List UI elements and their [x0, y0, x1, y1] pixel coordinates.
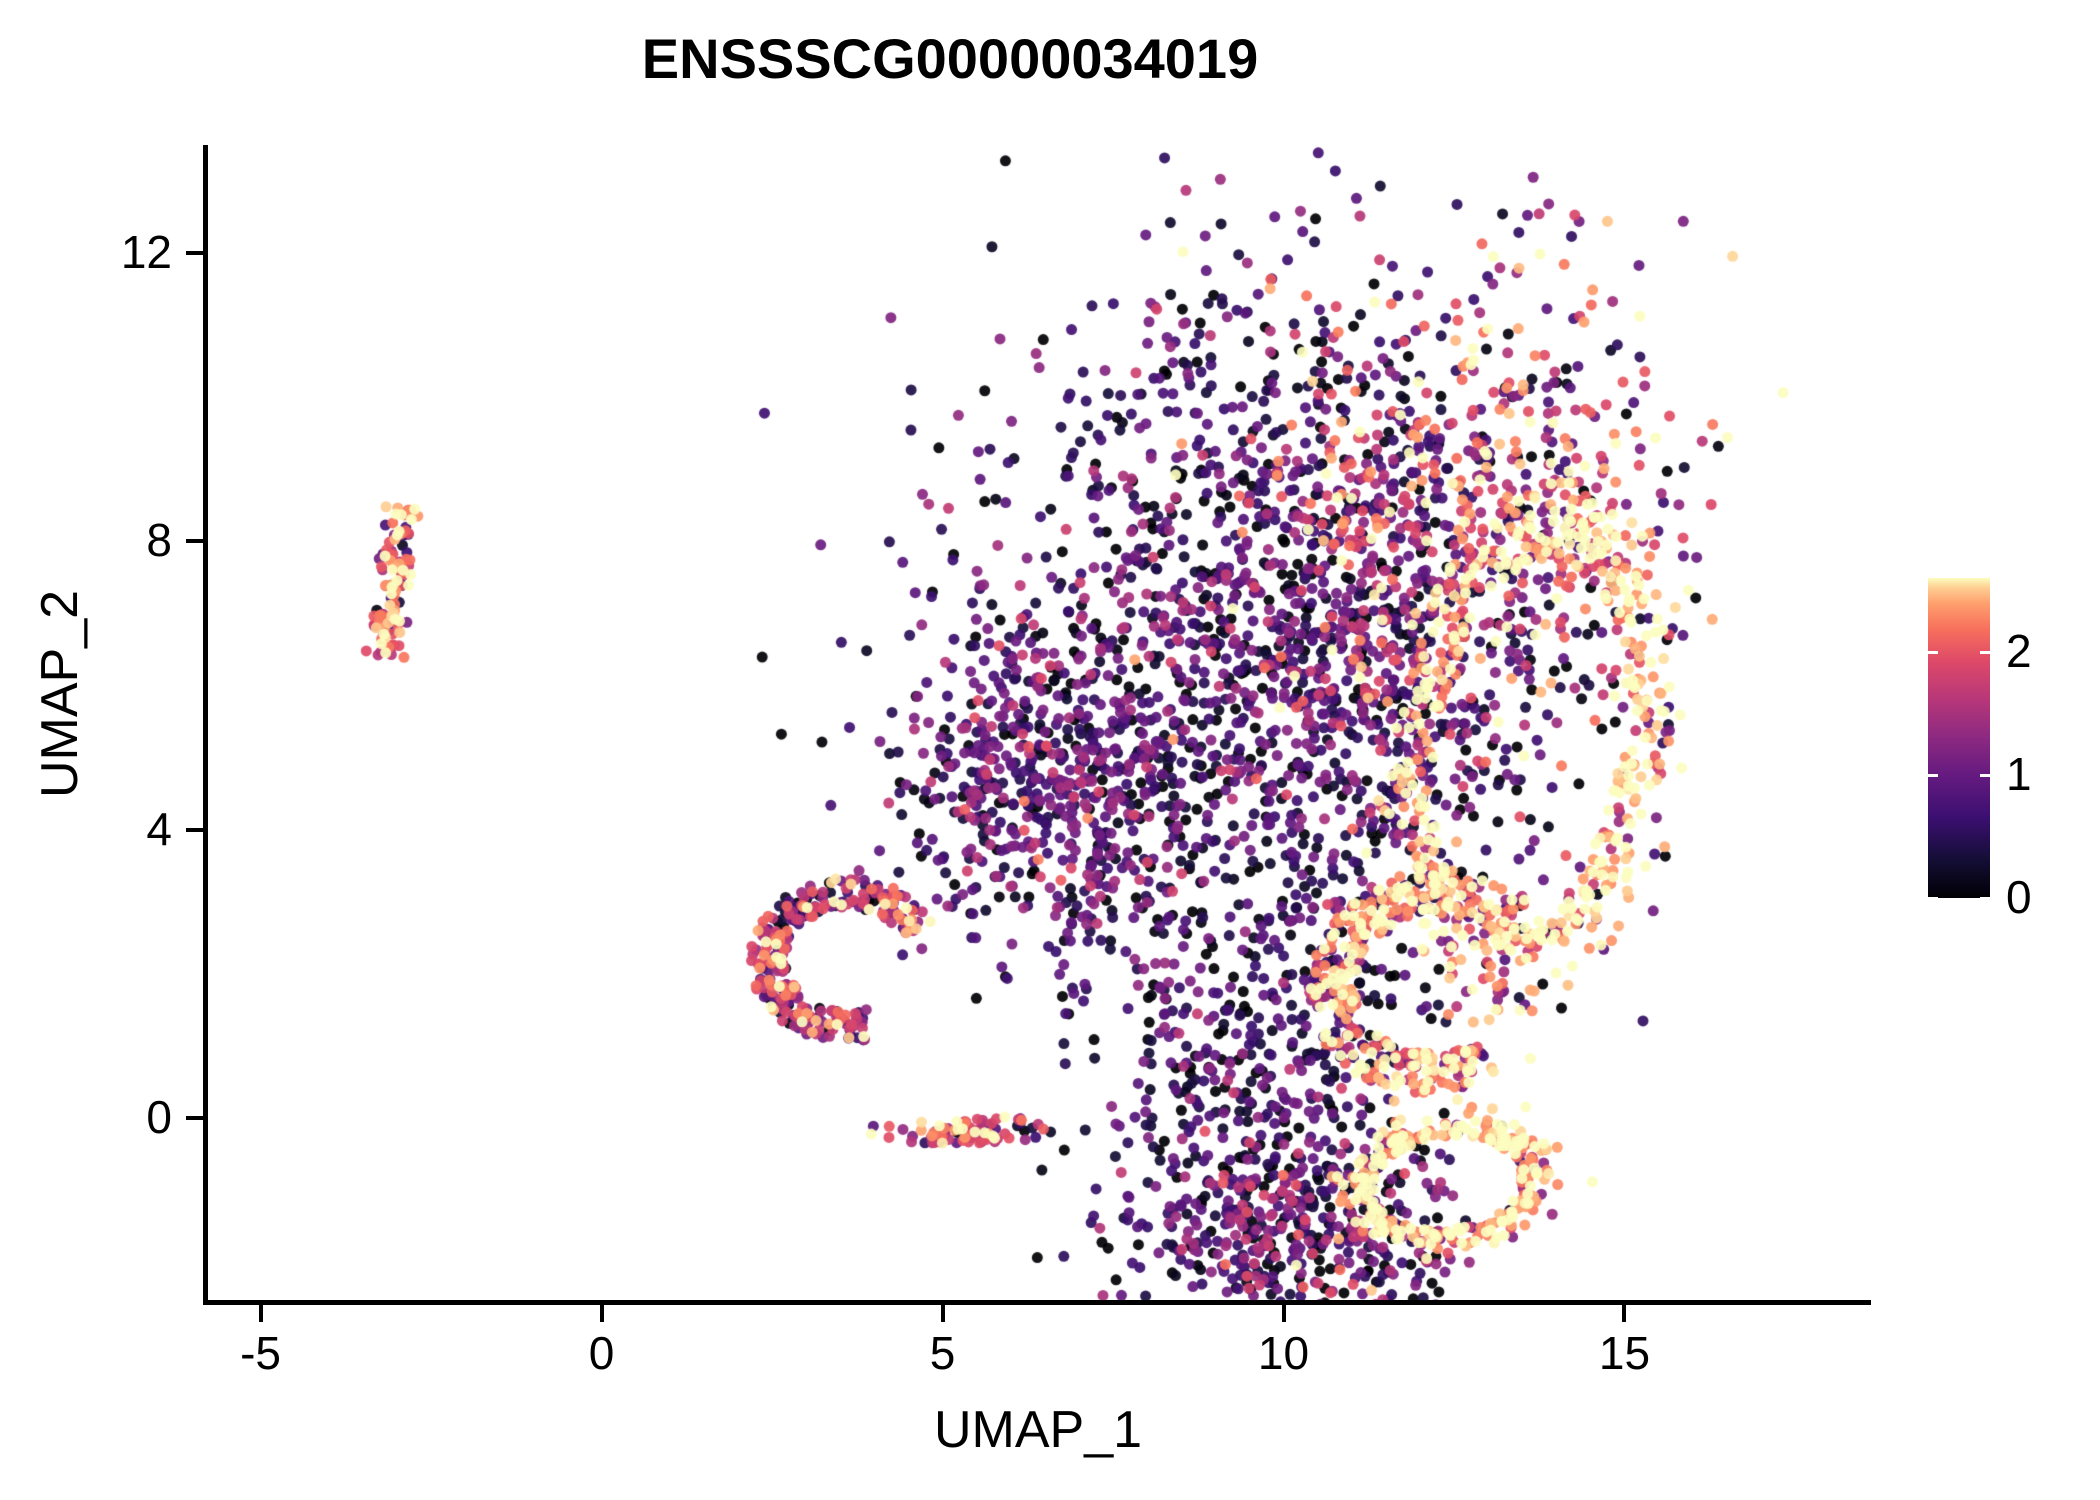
x-tick-label: -5 — [181, 1330, 341, 1376]
x-tick-label: 15 — [1544, 1330, 1704, 1376]
y-tick-mark — [186, 251, 203, 255]
x-axis-title: UMAP_1 — [206, 1400, 1870, 1460]
colorbar-tick-label: 2 — [2006, 628, 2032, 674]
x-tick-mark — [1282, 1305, 1286, 1322]
plot-panel — [206, 145, 1870, 1302]
umap-feature-plot: ENSSSCG00000034019 04812 -5051015 UMAP_1… — [0, 0, 2100, 1500]
colorbar-tick-label: 1 — [2006, 751, 2032, 797]
colorbar-tick-mark — [1928, 774, 1938, 777]
x-tick-label: 5 — [863, 1330, 1023, 1376]
x-tick-label: 10 — [1204, 1330, 1364, 1376]
page-title: ENSSSCG00000034019 — [0, 26, 1900, 91]
y-axis-line — [203, 145, 208, 1305]
y-tick-mark — [186, 828, 203, 832]
scatter-points-layer — [206, 145, 1870, 1302]
colorbar-tick-mark — [1980, 897, 1990, 900]
colorbar-tick-mark — [1928, 897, 1938, 900]
y-axis-title: UMAP_2 — [30, 114, 90, 1274]
colorbar-tick-label: 0 — [2006, 874, 2032, 920]
y-tick-mark — [186, 1116, 203, 1120]
y-tick-mark — [186, 539, 203, 543]
x-tick-mark — [1622, 1305, 1626, 1322]
color-legend — [1928, 578, 1990, 898]
x-tick-mark — [941, 1305, 945, 1322]
colorbar-gradient — [1928, 578, 1990, 898]
x-tick-mark — [259, 1305, 263, 1322]
colorbar-tick-mark — [1980, 651, 1990, 654]
x-tick-label: 0 — [522, 1330, 682, 1376]
x-axis-line — [203, 1300, 1871, 1305]
x-tick-mark — [600, 1305, 604, 1322]
colorbar-tick-mark — [1928, 651, 1938, 654]
colorbar-tick-mark — [1980, 774, 1990, 777]
